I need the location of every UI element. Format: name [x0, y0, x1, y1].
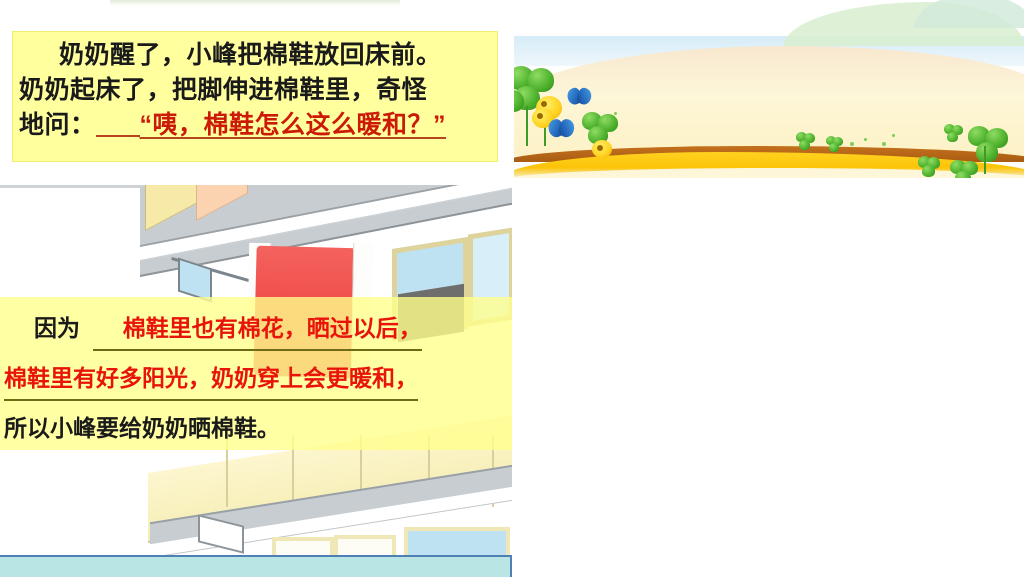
speck	[882, 142, 886, 146]
textbox-reason-bottom: 因为 棉鞋里也有棉花，晒过以后， 棉鞋里有好多阳光，奶奶穿上会更暖和， 所以小峰…	[0, 297, 512, 450]
speck	[614, 112, 617, 115]
butterfly-icon	[568, 88, 593, 106]
yellow-flower-icon	[592, 140, 612, 158]
right-slide: 假如小峰现在就站在你的面前， 你想对他说些什么?	[514, 0, 1024, 577]
left-slide: 奶奶醒了，小峰把棉鞋放回床前。 奶奶起床了，把脚伸进棉鞋里，奇怪 地问：“咦，棉…	[0, 0, 512, 577]
reason-lead: 因为	[34, 315, 80, 341]
speck	[892, 134, 895, 137]
story-line-3-prefix: 地问：	[19, 111, 96, 139]
speck	[850, 142, 854, 146]
reason-answer-2: 棉鞋里有好多阳光，奶奶穿上会更暖和，	[4, 358, 418, 401]
reason-answer-1: 棉鞋里也有棉花，晒过以后，	[93, 308, 422, 351]
stem	[984, 146, 986, 174]
speck	[606, 118, 610, 122]
story-line-1: 奶奶醒了，小峰把棉鞋放回床前。	[19, 38, 487, 73]
reason-line-2: 棉鞋里有好多阳光，奶奶穿上会更暖和，	[4, 353, 508, 403]
bottom-cyan-band	[0, 555, 512, 577]
story-line-3: 地问：“咦，棉鞋怎么这么暖和？”	[19, 108, 487, 143]
story-line-2: 奶奶起床了，把脚伸进棉鞋里，奇怪	[19, 73, 487, 108]
story-answer-red: “咦，棉鞋怎么这么暖和？”	[140, 111, 447, 139]
reason-line-3: 所以小峰要给奶奶晒棉鞋。	[4, 403, 508, 453]
top-green-sliver	[110, 0, 400, 6]
butterfly-icon	[549, 120, 576, 139]
stem	[526, 106, 528, 146]
small-window-box	[178, 257, 212, 302]
speck	[864, 138, 867, 141]
reason-line-1: 因为 棉鞋里也有棉花，晒过以后，	[4, 303, 508, 353]
textbox-story-top: 奶奶醒了，小峰把棉鞋放回床前。 奶奶起床了，把脚伸进棉鞋里，奇怪 地问：“咦，棉…	[12, 31, 498, 162]
decorative-banner	[514, 0, 1024, 178]
answer-blank	[96, 135, 140, 137]
slide-pair-canvas: 奶奶醒了，小峰把棉鞋放回床前。 奶奶起床了，把脚伸进棉鞋里，奇怪 地问：“咦，棉…	[0, 0, 1024, 577]
tree-line-right	[914, 0, 1024, 28]
